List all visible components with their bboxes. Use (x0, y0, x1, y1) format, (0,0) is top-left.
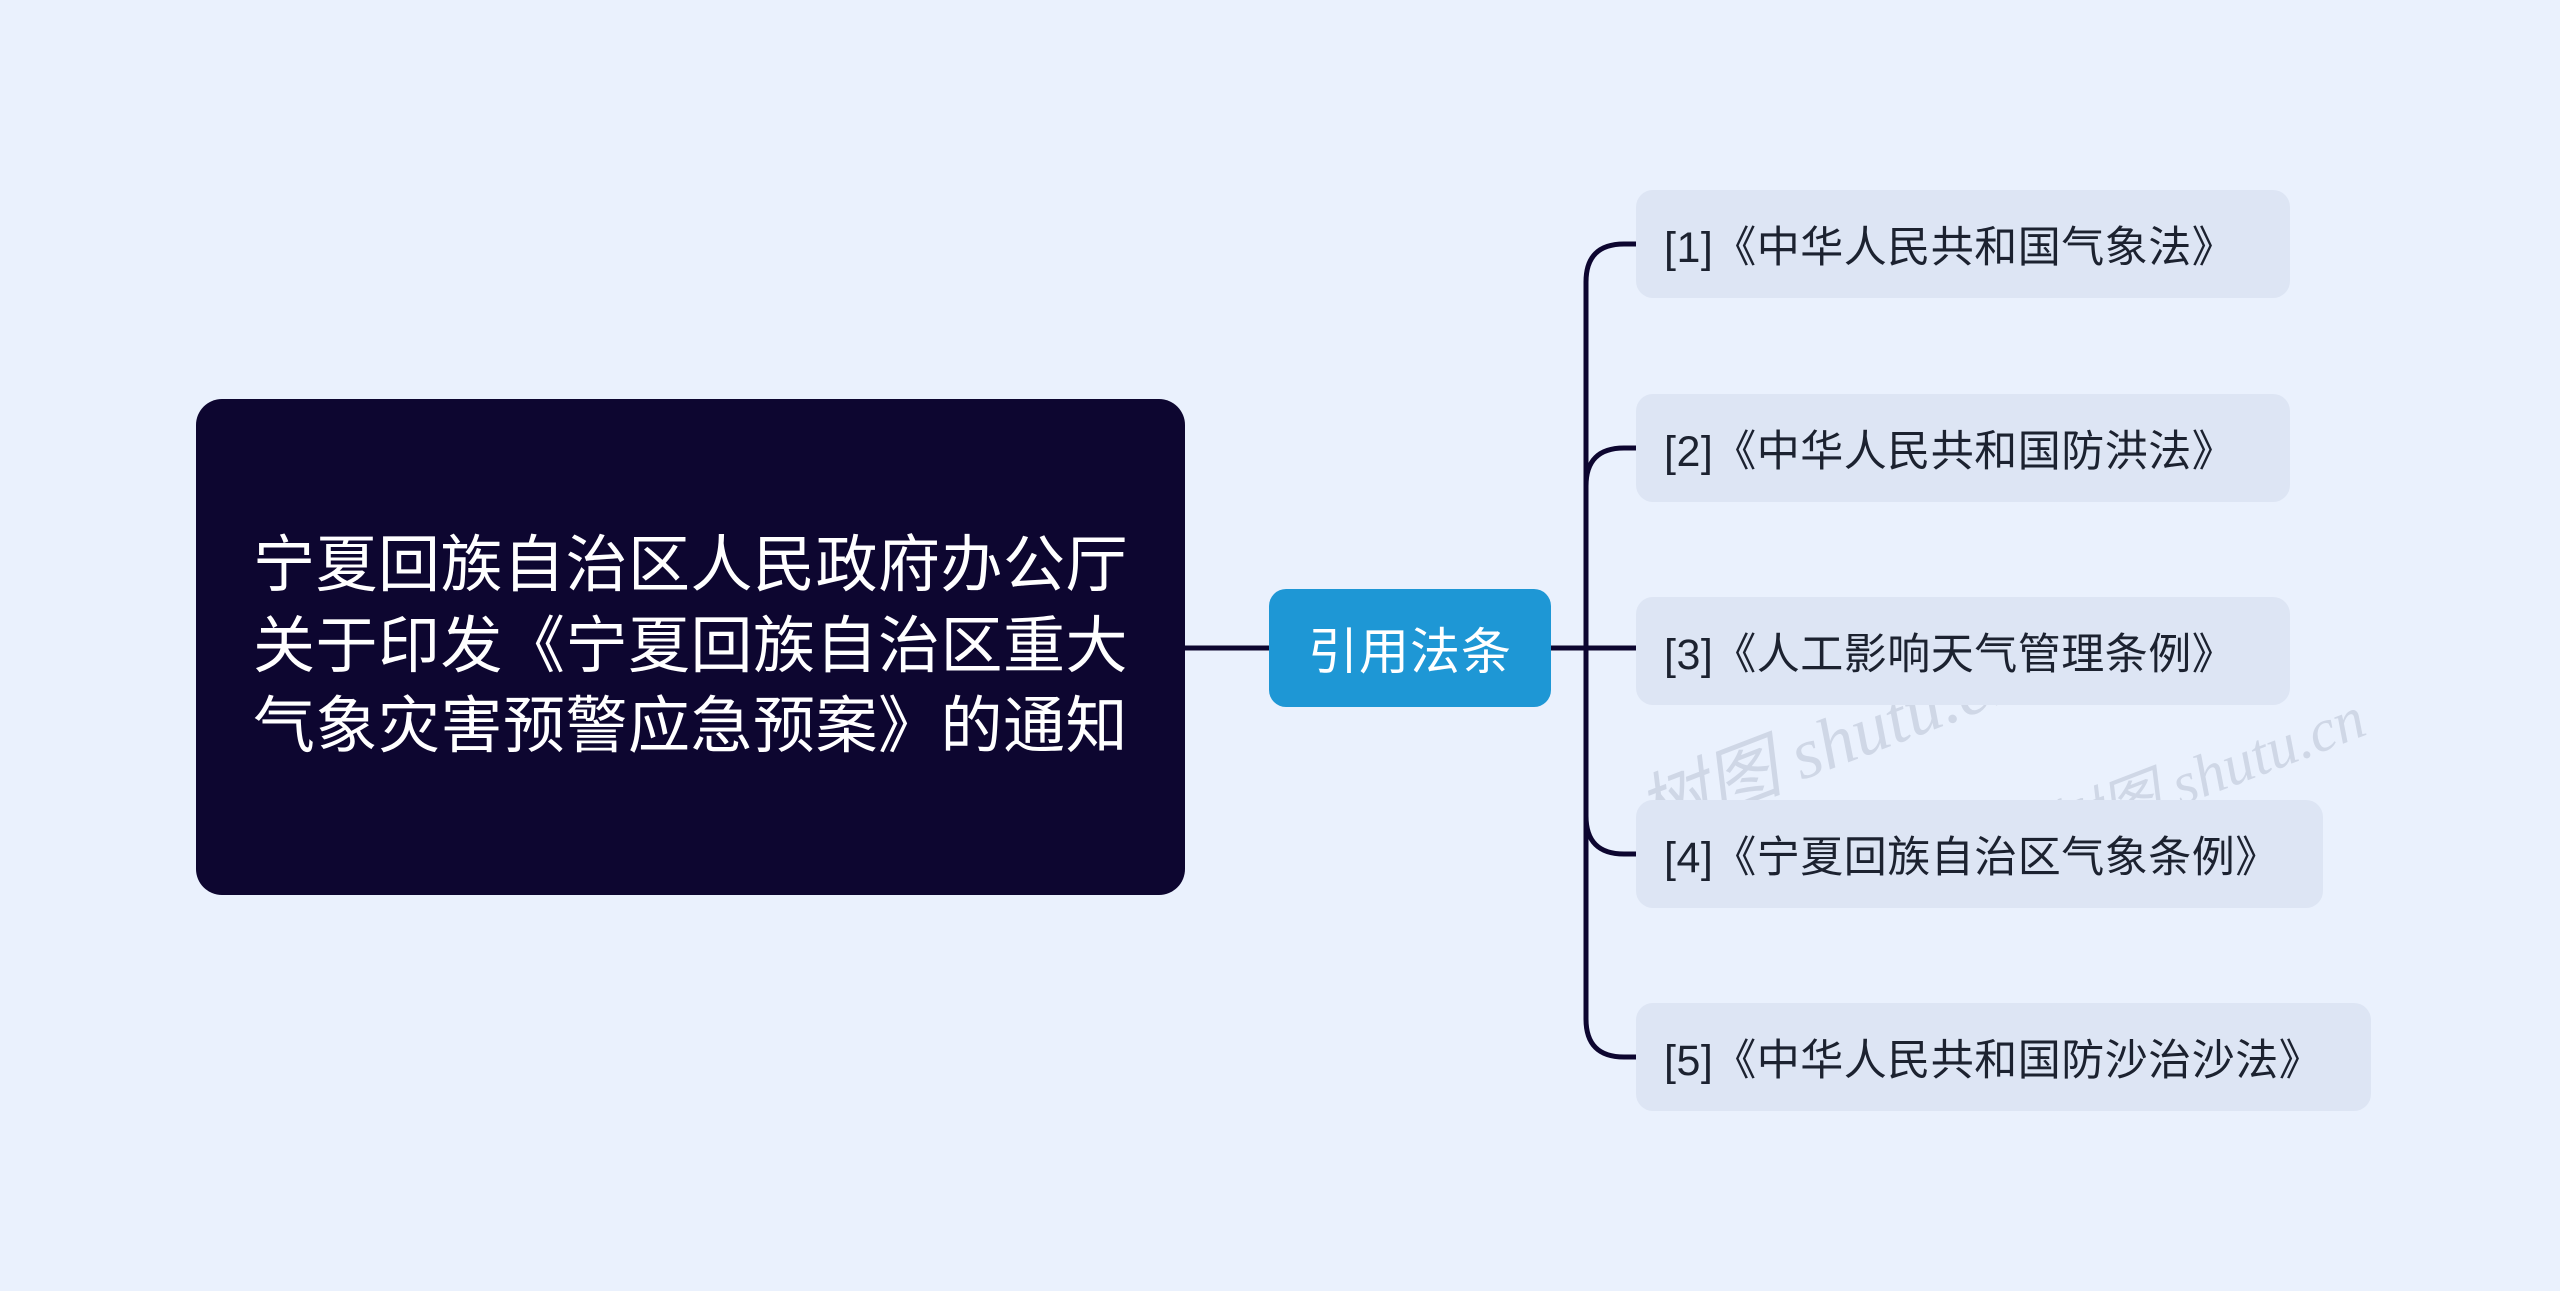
connector-branch-to-leaf-4 (1586, 648, 1636, 854)
leaf-node-law-2[interactable]: [2]《中华人民共和国防洪法》 (1636, 394, 2290, 502)
leaf-node-law-3[interactable]: [3]《人工影响天气管理条例》 (1636, 597, 2290, 705)
leaf-node-law-1[interactable]: [1]《中华人民共和国气象法》 (1636, 190, 2290, 298)
leaf-node-law-5[interactable]: [5]《中华人民共和国防沙治沙法》 (1636, 1003, 2371, 1111)
branch-node-cited-laws[interactable]: 引用法条 (1269, 589, 1551, 707)
root-node[interactable]: 宁夏回族自治区人民政府办公厅关于印发《宁夏回族自治区重大气象灾害预警应急预案》的… (196, 399, 1185, 895)
leaf-node-law-4[interactable]: [4]《宁夏回族自治区气象条例》 (1636, 800, 2323, 908)
connector-branch-to-leaf-2 (1586, 448, 1636, 648)
leaf-node-label: [2]《中华人民共和国防洪法》 (1664, 417, 2235, 479)
leaf-node-label: [1]《中华人民共和国气象法》 (1664, 213, 2235, 275)
root-node-label: 宁夏回族自治区人民政府办公厅关于印发《宁夏回族自治区重大气象灾害预警应急预案》的… (230, 526, 1151, 768)
branch-node-label: 引用法条 (1308, 612, 1512, 684)
leaf-node-label: [3]《人工影响天气管理条例》 (1664, 620, 2235, 682)
leaf-node-label: [4]《宁夏回族自治区气象条例》 (1664, 823, 2279, 885)
leaf-node-label: [5]《中华人民共和国防沙治沙法》 (1664, 1026, 2322, 1088)
mindmap-canvas: 树图 shutu.cn 树图 shutu.cn 树图 shutu.cn 宁夏回族… (0, 0, 2560, 1291)
